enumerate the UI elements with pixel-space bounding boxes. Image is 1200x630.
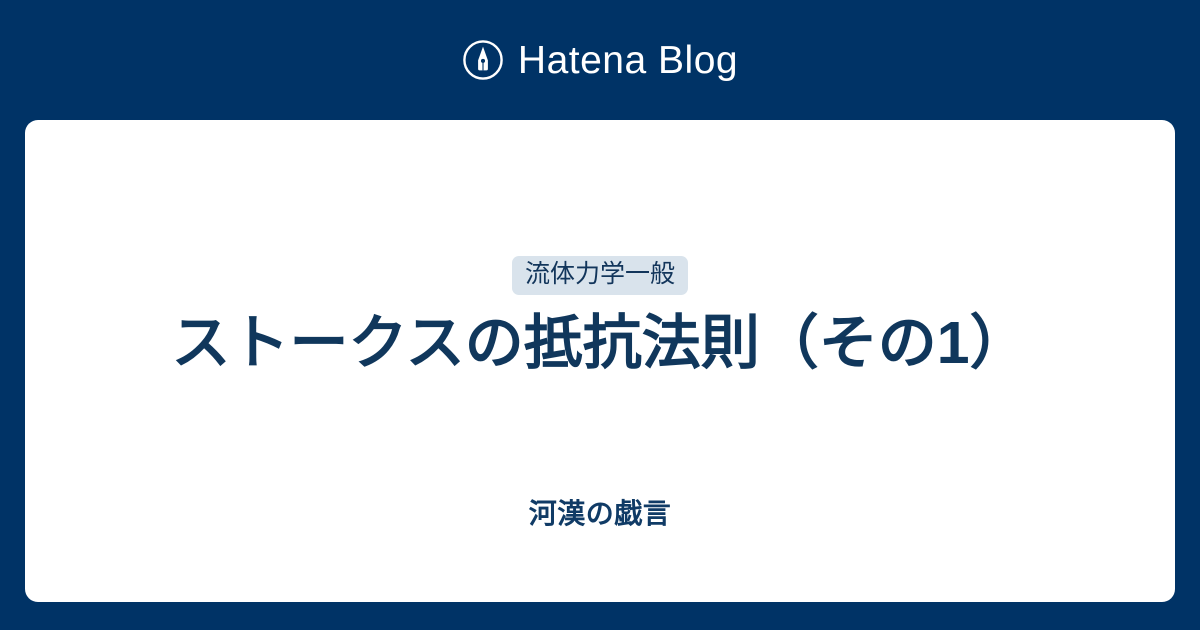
brand-name-text: Hatena Blog (518, 41, 738, 80)
entry-title-row: ストークスの抵抗法則（その1） (25, 308, 1175, 380)
blog-name-row: 河漢の戯言 (25, 500, 1175, 528)
entry-card: 流体力学一般 ストークスの抵抗法則（その1） 河漢の戯言 (25, 120, 1175, 602)
blog-name[interactable]: 河漢の戯言 (529, 500, 672, 528)
entry-card-inner: 流体力学一般 ストークスの抵抗法則（その1） 河漢の戯言 (25, 120, 1175, 602)
entry-title: ストークスの抵抗法則（その1） (171, 308, 1028, 380)
category-tag-row: 流体力学一般 (25, 256, 1175, 295)
pen-nib-circle-icon (462, 39, 504, 81)
brand-logo (462, 39, 504, 81)
hatena-blog-header: Hatena Blog (0, 0, 1200, 120)
category-tag[interactable]: 流体力学一般 (512, 256, 688, 295)
